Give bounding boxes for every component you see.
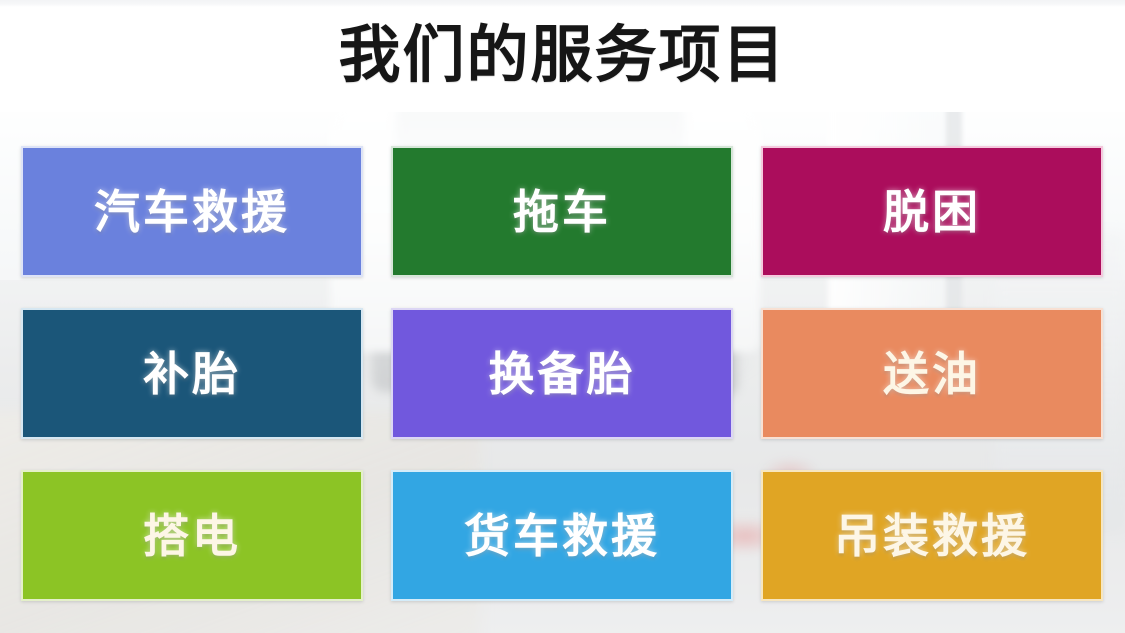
service-tile-label: 搭电	[143, 513, 241, 559]
service-tile[interactable]: 拖车	[391, 146, 733, 277]
service-tile[interactable]: 补胎	[21, 308, 363, 439]
service-tile[interactable]: 换备胎	[391, 308, 733, 439]
service-tile[interactable]: 搭电	[21, 470, 363, 601]
service-tile-label: 汽车救援	[94, 189, 290, 235]
page-title: 我们的服务项目	[338, 25, 786, 87]
service-tile[interactable]: 吊装救援	[761, 470, 1103, 601]
service-poster: 我们的服务项目 汽车救援拖车脱困补胎换备胎送油搭电货车救援吊装救援	[0, 0, 1125, 633]
service-tile-label: 脱困	[883, 189, 981, 235]
service-tile-label: 货车救援	[464, 513, 660, 559]
service-grid: 汽车救援拖车脱困补胎换备胎送油搭电货车救援吊装救援	[21, 146, 1104, 601]
service-tile[interactable]: 脱困	[761, 146, 1103, 277]
service-tile-label: 拖车	[513, 189, 611, 235]
service-tile[interactable]: 汽车救援	[21, 146, 363, 277]
service-tile-label: 补胎	[143, 351, 241, 397]
service-tile[interactable]: 货车救援	[391, 470, 733, 601]
service-tile-label: 吊装救援	[834, 513, 1030, 559]
service-tile-label: 换备胎	[489, 351, 636, 397]
service-tile[interactable]: 送油	[761, 308, 1103, 439]
service-tile-label: 送油	[883, 351, 981, 397]
title-bar: 我们的服务项目	[0, 0, 1125, 112]
